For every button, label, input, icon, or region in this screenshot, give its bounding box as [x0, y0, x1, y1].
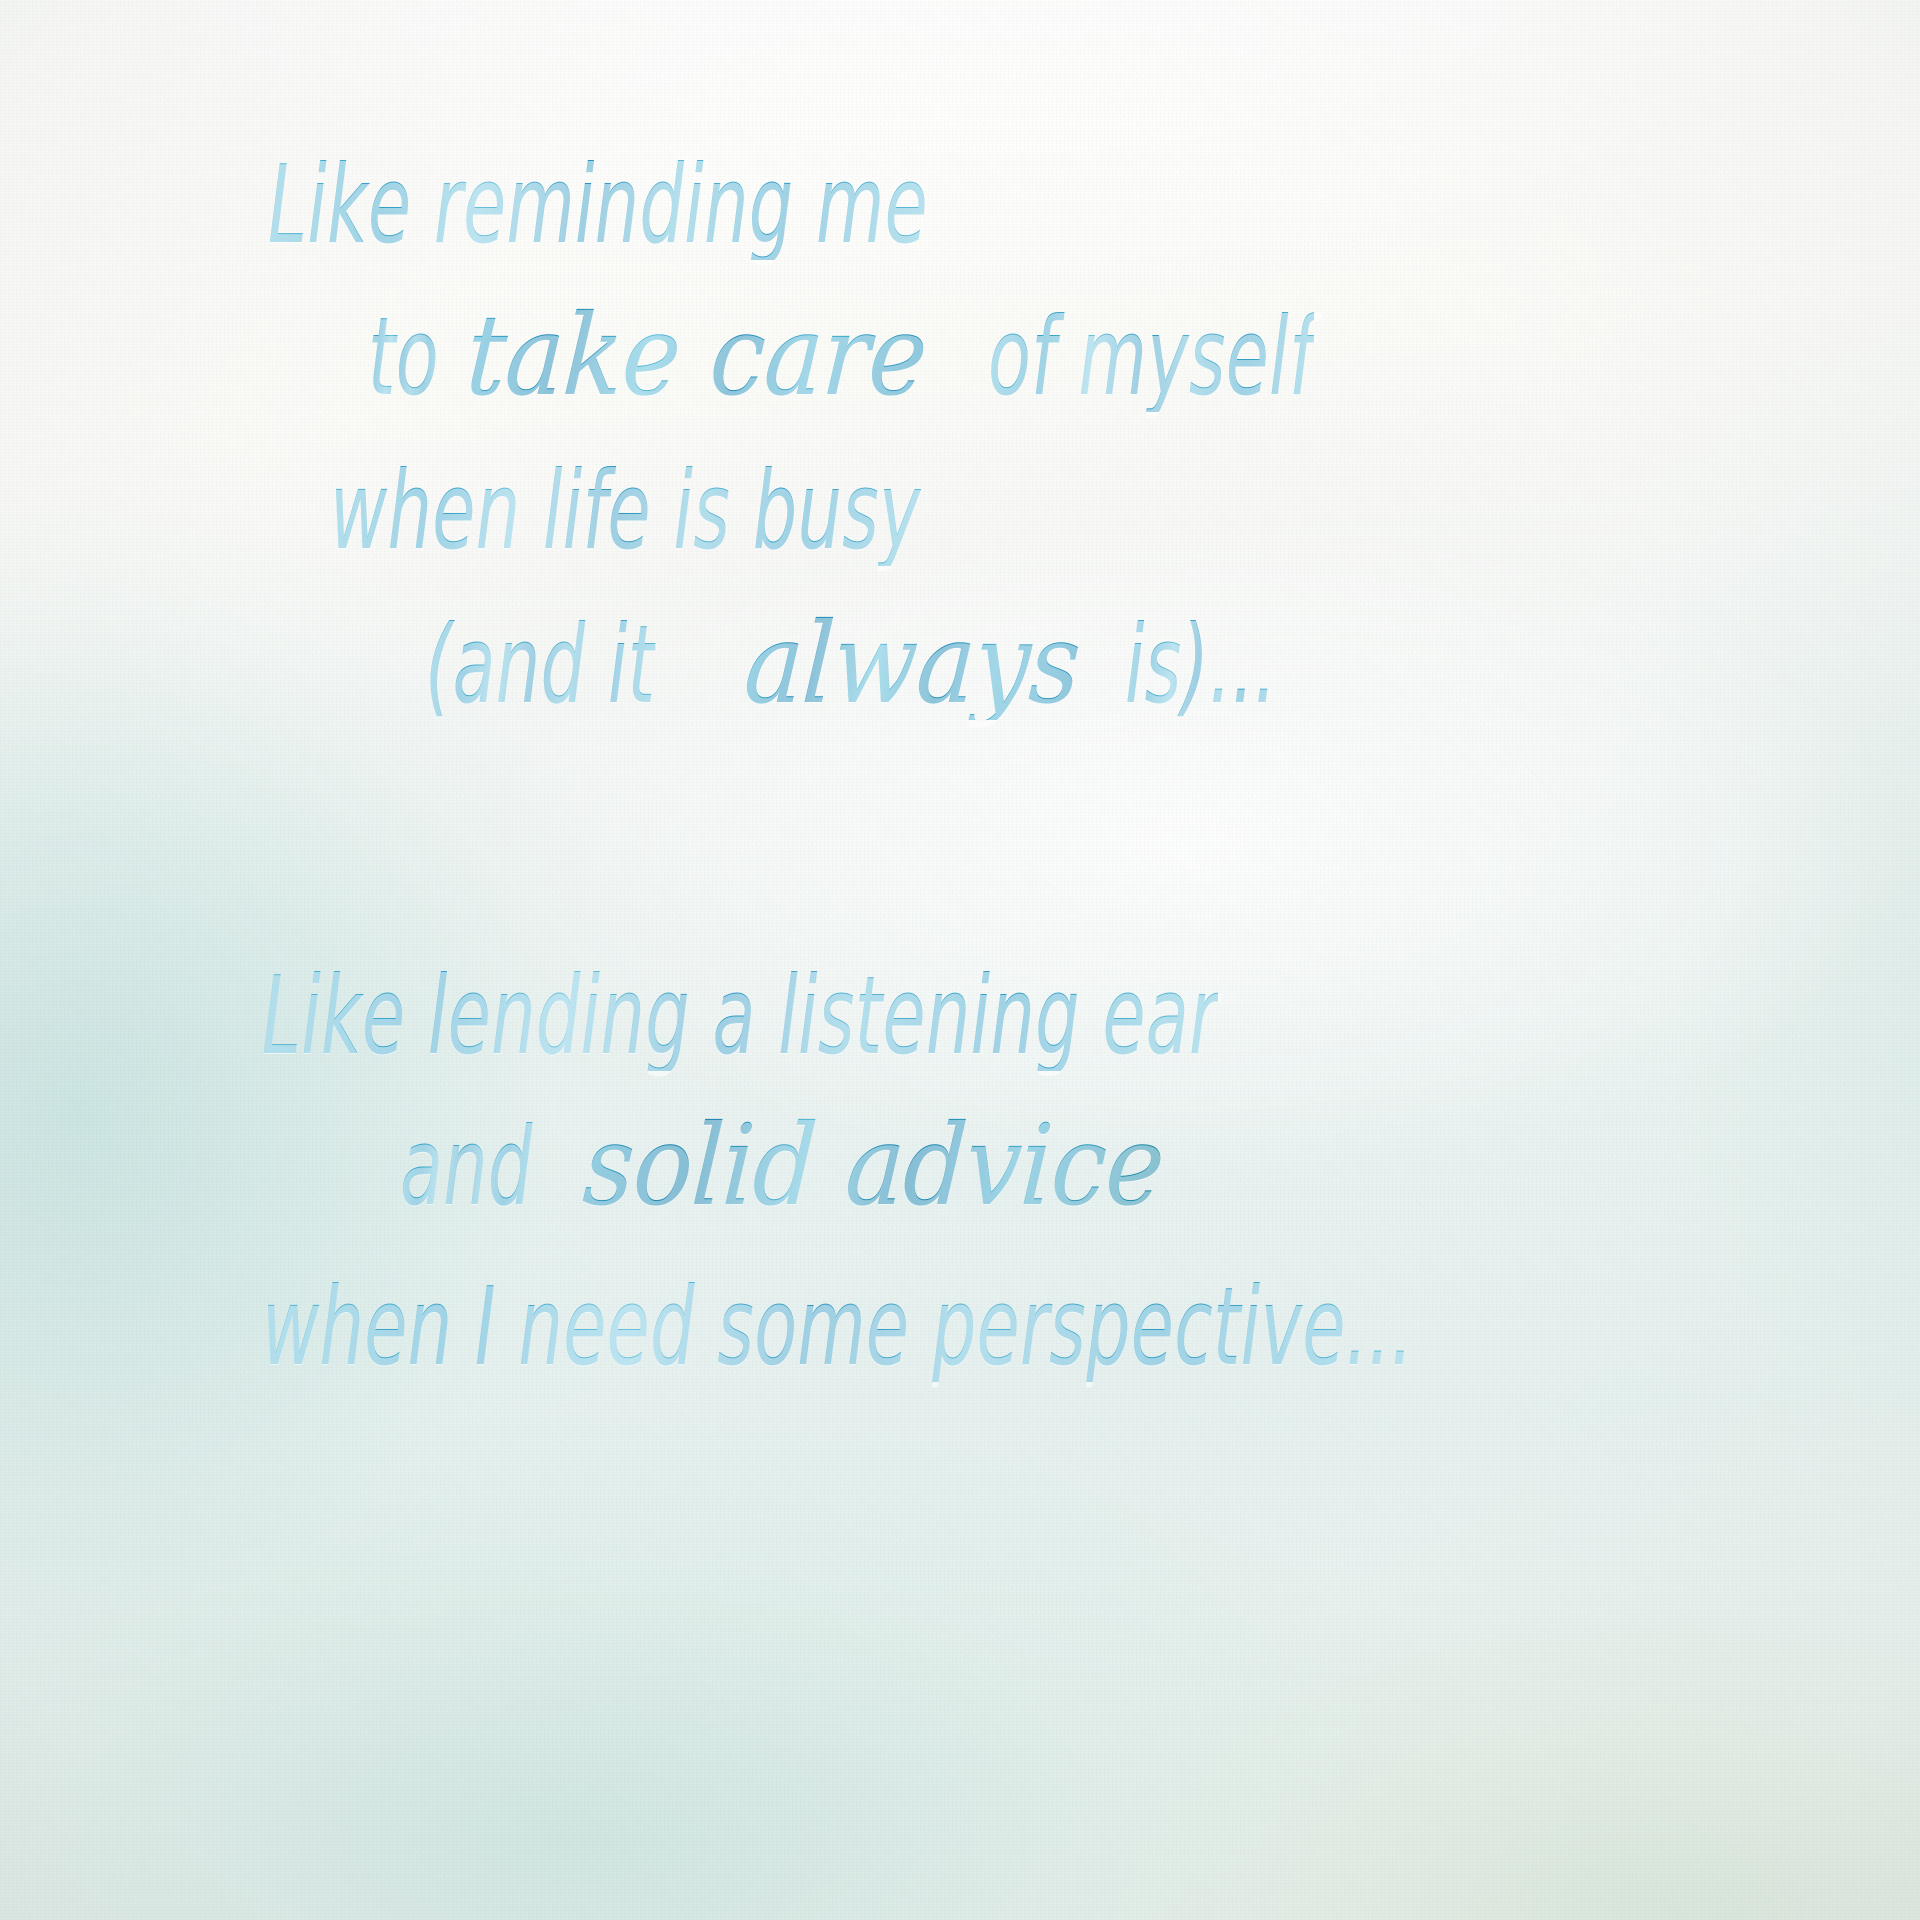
- verse-line-1: Like reminding me: [268, 148, 1185, 260]
- verse-line-7: when I need some perspective...: [262, 1270, 1861, 1382]
- verse-text-plain: when I need some perspective...: [262, 1274, 1413, 1382]
- verse-text-emphasis: solid advice: [581, 1110, 1167, 1222]
- verse-line-3: when life is busy: [330, 455, 1151, 566]
- verse-text-plain: and: [400, 1114, 533, 1222]
- greeting-card: Like reminding me to take care of myself…: [0, 0, 1920, 1920]
- verse-text-plain: is)...: [1125, 612, 1277, 720]
- verse-line-6: and solid advice: [400, 1110, 1243, 1222]
- verse-line-2: to take care of myself: [368, 300, 1441, 412]
- verse-text-emphasis: take care: [463, 300, 929, 412]
- card-verse-text: Like reminding me to take care of myself…: [0, 0, 1920, 1920]
- verse-line-4: (and it always is)...: [425, 608, 1336, 720]
- verse-line-5: Like lending a listening ear: [262, 960, 1590, 1071]
- verse-text-plain: of myself: [988, 304, 1314, 412]
- verse-text-plain: when life is busy: [330, 458, 921, 566]
- verse-text-plain: Like reminding me: [268, 152, 928, 260]
- verse-text-emphasis: always: [742, 608, 1083, 720]
- verse-text-plain: (and it: [425, 612, 656, 720]
- verse-text-plain: Like lending a listening ear: [262, 963, 1218, 1071]
- verse-text-plain: to: [368, 304, 439, 412]
